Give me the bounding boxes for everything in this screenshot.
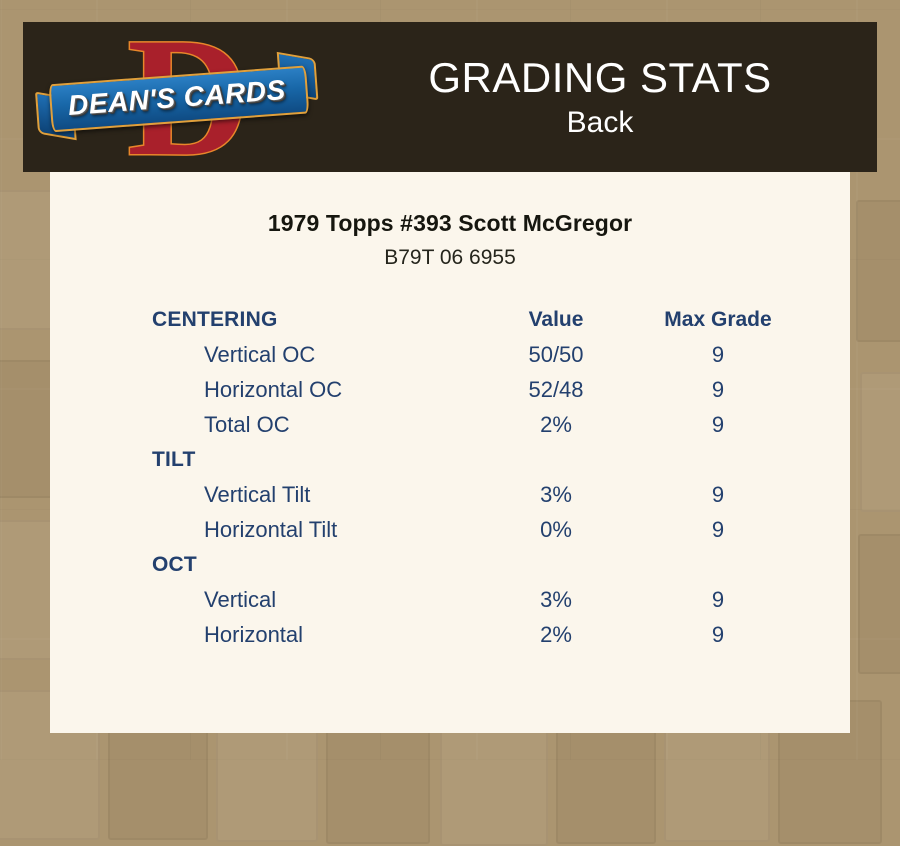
stat-max-grade: 9 <box>640 582 796 617</box>
section-header-row: CENTERINGValueMax Grade <box>152 302 796 337</box>
empty-cell <box>640 547 796 582</box>
stat-value: 3% <box>472 477 640 512</box>
content-panel: 1979 Topps #393 Scott McGregor B79T 06 6… <box>50 172 850 733</box>
section-header-row: TILT <box>152 442 796 477</box>
header-titles: GRADING STATS Back <box>323 22 877 172</box>
card-serial: B79T 06 6955 <box>50 246 850 270</box>
table-row: Total OC2%9 <box>152 407 796 442</box>
table-row: Horizontal Tilt0%9 <box>152 512 796 547</box>
page-title: GRADING STATS <box>428 52 771 104</box>
stat-value: 52/48 <box>472 372 640 407</box>
stat-label: Horizontal Tilt <box>152 512 472 547</box>
card-title: 1979 Topps #393 Scott McGregor <box>50 210 850 237</box>
stat-value: 3% <box>472 582 640 617</box>
section-header-row: OCT <box>152 547 796 582</box>
stat-value: 50/50 <box>472 337 640 372</box>
header-bar: D DEAN'S CARDS GRADING STATS Back <box>23 22 877 172</box>
grading-stats-table: CENTERINGValueMax GradeVertical OC50/509… <box>50 302 850 652</box>
empty-cell <box>472 442 640 477</box>
table-row: Vertical3%9 <box>152 582 796 617</box>
empty-cell <box>640 442 796 477</box>
deans-cards-logo[interactable]: D DEAN'S CARDS <box>38 26 318 168</box>
column-header-value: Value <box>472 302 640 337</box>
column-header-max-grade: Max Grade <box>640 302 796 337</box>
table-row: Vertical Tilt3%9 <box>152 477 796 512</box>
stat-max-grade: 9 <box>640 337 796 372</box>
stat-value: 2% <box>472 617 640 652</box>
stats-table: CENTERINGValueMax GradeVertical OC50/509… <box>152 302 796 652</box>
stat-label: Total OC <box>152 407 472 442</box>
section-title: TILT <box>152 442 472 477</box>
stat-max-grade: 9 <box>640 512 796 547</box>
ghost-card-image <box>856 200 900 342</box>
section-title: CENTERING <box>152 302 472 337</box>
stat-max-grade: 9 <box>640 617 796 652</box>
stat-max-grade: 9 <box>640 372 796 407</box>
table-row: Horizontal OC52/489 <box>152 372 796 407</box>
empty-cell <box>472 547 640 582</box>
ghost-card-image <box>860 372 900 512</box>
stat-label: Vertical OC <box>152 337 472 372</box>
table-row: Horizontal2%9 <box>152 617 796 652</box>
page-subtitle: Back <box>567 104 634 142</box>
stat-label: Horizontal <box>152 617 472 652</box>
stat-max-grade: 9 <box>640 477 796 512</box>
stat-label: Horizontal OC <box>152 372 472 407</box>
logo-ribbon: DEAN'S CARDS <box>38 62 315 138</box>
stat-value: 2% <box>472 407 640 442</box>
stat-label: Vertical <box>152 582 472 617</box>
stat-value: 0% <box>472 512 640 547</box>
ghost-card-image <box>858 534 900 674</box>
stat-max-grade: 9 <box>640 407 796 442</box>
stat-label: Vertical Tilt <box>152 477 472 512</box>
section-title: OCT <box>152 547 472 582</box>
table-row: Vertical OC50/509 <box>152 337 796 372</box>
